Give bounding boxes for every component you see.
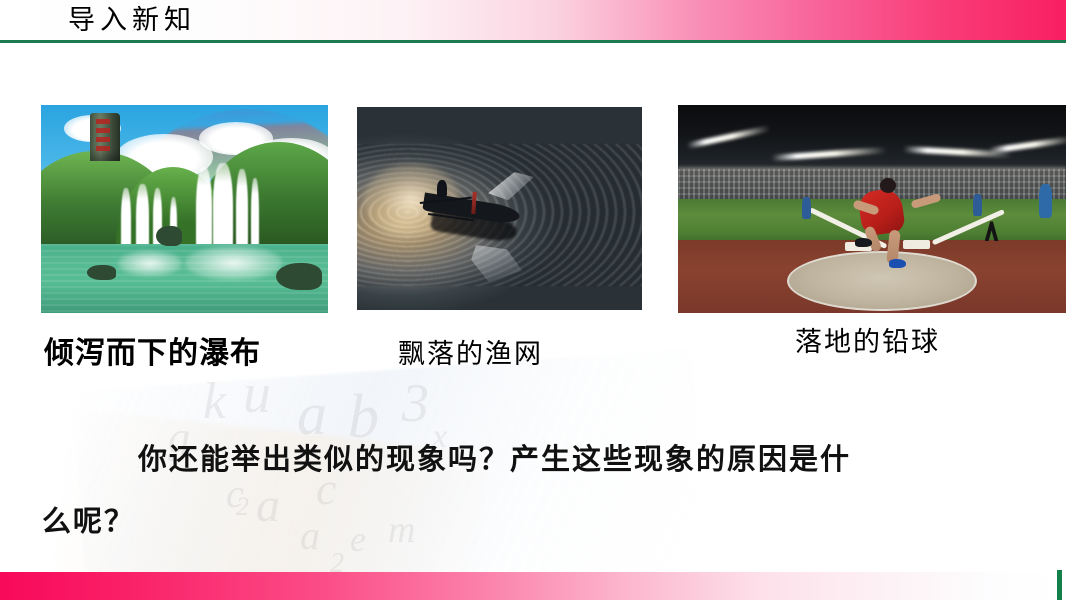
athlete-shoe-front <box>889 259 906 268</box>
official-figure-left <box>802 197 811 219</box>
caption-shotput: 落地的铅球 <box>795 320 940 359</box>
cliff-tower <box>90 113 120 161</box>
rock <box>87 265 116 280</box>
caption-waterfall: 倾泻而下的瀑布 <box>44 328 261 372</box>
page-title: 导入新知 <box>68 3 196 39</box>
throwing-circle <box>787 251 977 311</box>
question-block: 你还能举出类似的现象吗？产生这些现象的原因是什 么呢？ <box>42 428 1022 552</box>
footer-right-accent-bar <box>1057 570 1062 600</box>
athlete-shoe-back <box>855 238 872 247</box>
caption-fishnet: 飘落的渔网 <box>398 332 543 371</box>
athlete-head <box>880 178 896 193</box>
rock <box>276 263 322 290</box>
shotput-photo <box>678 105 1066 313</box>
waterfall-spray <box>185 246 283 279</box>
waterfall-photo <box>41 105 328 313</box>
fishnet-photo <box>357 107 642 310</box>
fisherman-figure <box>437 180 447 197</box>
official-figure-mid <box>973 194 982 216</box>
official-figure-right <box>1039 184 1052 218</box>
waterfall-spray <box>118 251 181 276</box>
stop-board-right <box>903 240 930 248</box>
header-underline <box>0 40 1066 43</box>
rock <box>156 226 182 247</box>
question-line-2: 么呢？ <box>42 490 1022 552</box>
question-line-1: 你还能举出类似的现象吗？产生这些现象的原因是什 <box>42 428 1022 490</box>
footer-band <box>0 572 1057 600</box>
